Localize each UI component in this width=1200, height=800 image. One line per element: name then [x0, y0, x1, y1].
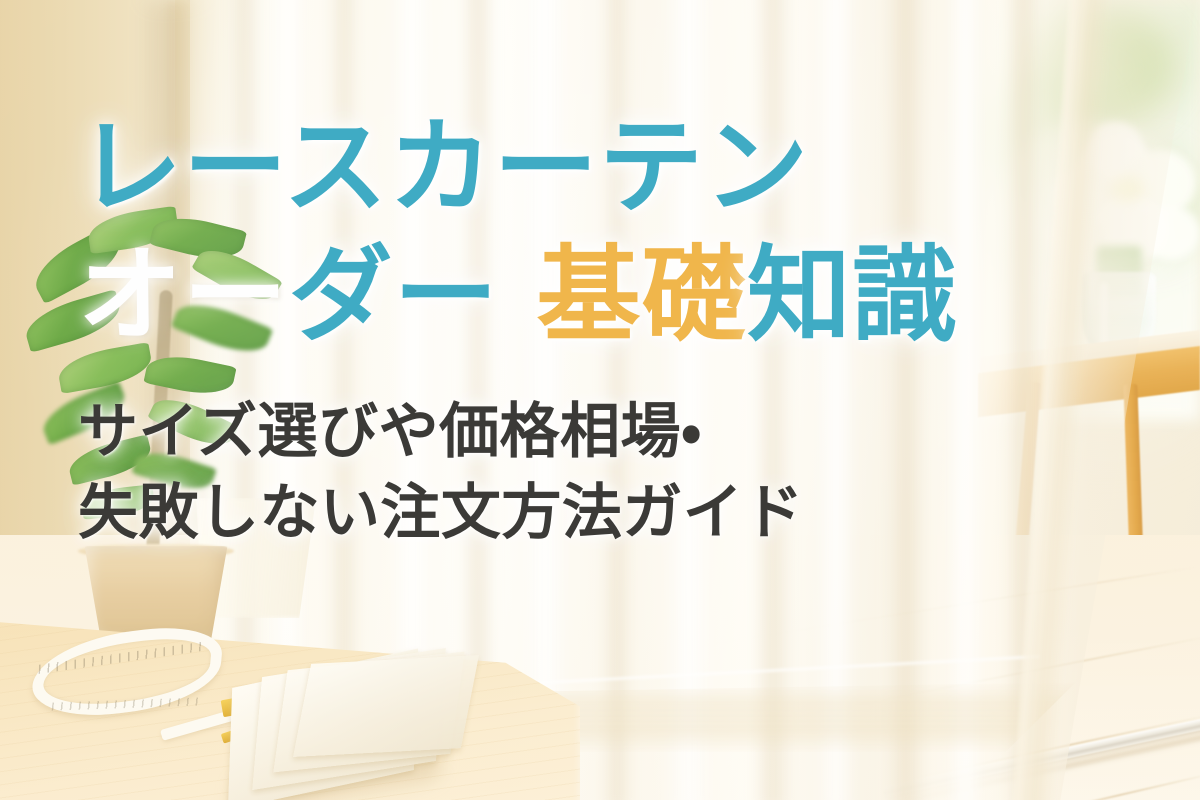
title-segment-order-white: オー [78, 234, 289, 356]
wooden-table [0, 570, 580, 800]
subtitle-line-2: 失敗しない注文方法ガイド [78, 473, 1078, 554]
hero-banner: レースカーテン オーダー 基礎知識 サイズ選びや価格相場・ 失敗しない注文方法ガ… [0, 0, 1200, 800]
title-segment-kiso: 基礎 [536, 234, 747, 356]
title-segment-space [499, 234, 536, 356]
title-segment-lace-curtain: レースカーテン [78, 106, 810, 228]
fabric-swatch [293, 655, 479, 757]
subtitle-line-1: サイズ選びや価格相場・ [78, 392, 1078, 473]
title-line-2: オーダー 基礎知識 [78, 232, 1078, 360]
banner-copy: レースカーテン オーダー 基礎知識 サイズ選びや価格相場・ 失敗しない注文方法ガ… [78, 104, 1078, 554]
title-segment-order-teal: ダー [289, 234, 500, 356]
title-line-1: レースカーテン [78, 104, 1078, 232]
title-segment-chishiki: 知識 [747, 234, 958, 356]
banner-subtitle: サイズ選びや価格相場・ 失敗しない注文方法ガイド [78, 392, 1078, 554]
